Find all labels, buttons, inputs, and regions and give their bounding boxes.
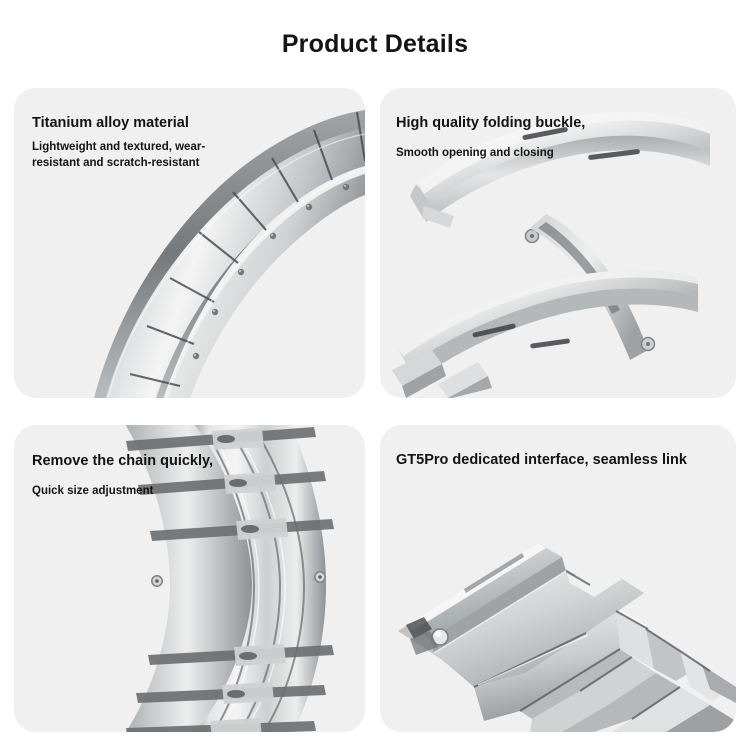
- caption-remove-chain: Remove the chain quickly, Quick size adj…: [32, 452, 213, 500]
- lug-connector-image: [380, 425, 736, 732]
- panel-heading: Remove the chain quickly,: [32, 452, 213, 470]
- panel-dedicated-interface[interactable]: GT5Pro dedicated interface, seamless lin…: [380, 425, 736, 732]
- product-details-page: Product Details: [0, 0, 750, 750]
- panel-subtext: Quick size adjustment: [32, 484, 213, 500]
- page-title: Product Details: [0, 30, 750, 59]
- panel-subtext: Lightweight and textured, wear-resistant…: [32, 140, 247, 172]
- caption-folding-buckle: High quality folding buckle, Smooth open…: [396, 114, 585, 162]
- panel-heading: Titanium alloy material: [32, 114, 247, 132]
- panel-folding-buckle[interactable]: High quality folding buckle, Smooth open…: [380, 88, 736, 398]
- panel-heading: High quality folding buckle,: [396, 114, 585, 132]
- panel-subtext: Smooth opening and closing: [396, 146, 585, 162]
- panel-heading: GT5Pro dedicated interface, seamless lin…: [396, 451, 687, 469]
- panel-grid: Titanium alloy material Lightweight and …: [14, 88, 736, 732]
- caption-dedicated-interface: GT5Pro dedicated interface, seamless lin…: [396, 451, 687, 469]
- panel-remove-chain[interactable]: Remove the chain quickly, Quick size adj…: [14, 425, 365, 732]
- caption-titanium-alloy-material: Titanium alloy material Lightweight and …: [32, 114, 247, 172]
- panel-titanium-alloy-material[interactable]: Titanium alloy material Lightweight and …: [14, 88, 365, 398]
